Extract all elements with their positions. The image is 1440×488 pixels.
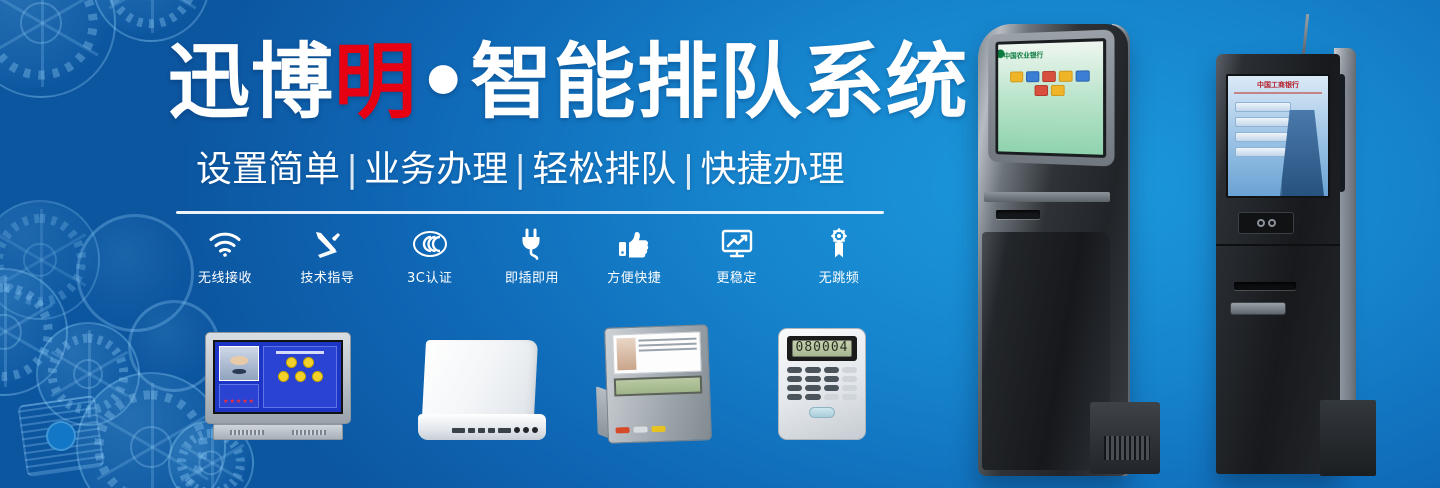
key[interactable] bbox=[824, 376, 839, 382]
key[interactable] bbox=[824, 394, 839, 400]
feature-item-convenient: 方便快捷 bbox=[585, 224, 683, 286]
kiosk-front-panel bbox=[984, 192, 1110, 202]
text-line bbox=[639, 348, 697, 352]
menu-tile[interactable] bbox=[1059, 71, 1073, 82]
key[interactable] bbox=[842, 376, 857, 382]
key[interactable] bbox=[824, 385, 839, 391]
evaluator-body bbox=[604, 324, 712, 444]
product-keypad-terminal: 080004 bbox=[778, 328, 866, 440]
kiosk-menu-list bbox=[1235, 102, 1291, 157]
avatar bbox=[616, 338, 636, 371]
kiosk-screen[interactable]: 中国农业银行 bbox=[995, 38, 1106, 158]
subtitle: 设置简单|业务办理|轻松排队|快捷办理 bbox=[196, 148, 896, 191]
menu-tile[interactable] bbox=[1026, 71, 1039, 82]
port-icon bbox=[488, 428, 495, 433]
emoji-row bbox=[286, 357, 314, 368]
menu-item[interactable] bbox=[1235, 102, 1291, 112]
kiosk-base bbox=[1320, 400, 1376, 476]
avatar bbox=[219, 346, 259, 381]
ticket-slot bbox=[996, 210, 1040, 219]
page-title: 迅博明•智能排队系统 bbox=[168, 42, 928, 124]
red-button bbox=[615, 427, 629, 433]
feature-label: 更稳定 bbox=[688, 267, 786, 286]
key[interactable] bbox=[842, 385, 857, 391]
key[interactable] bbox=[842, 394, 857, 400]
product-desktop-evaluator bbox=[604, 324, 712, 444]
subtitle-item-1: 设置简单 bbox=[196, 149, 340, 190]
tools-icon bbox=[278, 224, 376, 264]
ccc-icon bbox=[381, 224, 479, 264]
port-icon bbox=[478, 428, 485, 433]
port-icon bbox=[514, 427, 520, 433]
port-icon bbox=[523, 427, 529, 433]
keypad-lcd-bezel: 080004 bbox=[787, 336, 857, 361]
rating-question bbox=[276, 351, 324, 354]
menu-item[interactable] bbox=[1235, 147, 1291, 157]
title-part-1: 迅博 bbox=[168, 35, 334, 130]
key[interactable] bbox=[787, 385, 802, 391]
horizontal-divider bbox=[176, 211, 884, 214]
reader-eye-icon bbox=[1257, 219, 1265, 227]
grey-button bbox=[633, 426, 647, 432]
evaluator-buttons bbox=[615, 397, 704, 436]
banner-content: 迅博明•智能排队系统 设置简单|业务办理|轻松排队|快捷办理 无线接收 bbox=[0, 0, 920, 488]
port-icon bbox=[498, 428, 511, 433]
subtitle-item-4: 快捷办理 bbox=[700, 149, 844, 190]
brand-plate bbox=[1230, 302, 1286, 315]
kiosk-menu-tiles bbox=[1006, 70, 1095, 96]
antenna bbox=[1302, 14, 1309, 56]
wifi-icon bbox=[176, 224, 274, 264]
key[interactable] bbox=[842, 367, 857, 373]
host-box-panel bbox=[422, 340, 538, 418]
feature-list: 无线接收 技术指导 bbox=[176, 224, 888, 290]
subtitle-separator: | bbox=[340, 149, 364, 190]
port-icon bbox=[468, 428, 475, 433]
product-banner: 迅博明•智能排队系统 设置简单|业务办理|轻松排队|快捷办理 无线接收 bbox=[0, 0, 1440, 488]
port-icon bbox=[532, 427, 538, 433]
host-box-ports bbox=[452, 427, 538, 433]
product-evaluation-monitor bbox=[205, 332, 351, 440]
panel-seam bbox=[1216, 244, 1340, 246]
feature-item-tech-support: 技术指导 bbox=[278, 224, 376, 286]
key[interactable] bbox=[805, 385, 820, 391]
emoji-icon bbox=[312, 371, 323, 382]
kiosk-base bbox=[1090, 402, 1160, 474]
feature-item-plug-and-play: 即插即用 bbox=[483, 224, 581, 286]
award-icon bbox=[790, 224, 888, 264]
feature-label: 方便快捷 bbox=[585, 267, 683, 286]
subtitle-item-2: 业务办理 bbox=[364, 149, 508, 190]
monitor-staff-panel bbox=[219, 346, 259, 408]
monitor-chart-icon bbox=[688, 224, 786, 264]
feature-item-no-frequency-hop: 无跳频 bbox=[790, 224, 888, 286]
keypad-display: 080004 bbox=[792, 340, 852, 357]
emoji-row bbox=[278, 371, 323, 382]
monitor-frame bbox=[205, 332, 351, 424]
menu-tile[interactable] bbox=[1050, 85, 1064, 96]
monitor-stand bbox=[213, 424, 343, 440]
monitor-rating-panel bbox=[263, 346, 337, 408]
kiosk-screen[interactable]: 中国工商银行 bbox=[1226, 74, 1330, 198]
title-highlight: 明 bbox=[334, 35, 417, 130]
text-line bbox=[639, 338, 697, 342]
monitor-screen bbox=[213, 340, 343, 414]
feature-label: 技术指导 bbox=[278, 267, 376, 286]
menu-tile[interactable] bbox=[1076, 70, 1090, 81]
thumbs-up-icon bbox=[585, 224, 683, 264]
feature-label: 即插即用 bbox=[483, 267, 581, 286]
feature-item-wireless: 无线接收 bbox=[176, 224, 274, 286]
emoji-icon bbox=[295, 371, 306, 382]
menu-tile[interactable] bbox=[1010, 71, 1023, 82]
card-reader[interactable] bbox=[1238, 212, 1294, 234]
enter-key[interactable] bbox=[809, 407, 835, 418]
key[interactable] bbox=[824, 367, 839, 373]
port-icon bbox=[452, 428, 465, 433]
keypad-body: 080004 bbox=[778, 328, 866, 440]
screen-subtitle-line bbox=[1234, 92, 1322, 94]
menu-tile[interactable] bbox=[1042, 71, 1056, 82]
product-upright-queue-kiosk: 中国工商银行 bbox=[1208, 26, 1376, 476]
kiosk-bank-name: 中国工商银行 bbox=[1232, 80, 1324, 90]
subtitle-separator: | bbox=[676, 149, 700, 190]
menu-item[interactable] bbox=[1235, 117, 1291, 127]
menu-item[interactable] bbox=[1235, 132, 1291, 142]
title-dot: • bbox=[417, 35, 470, 130]
host-box-base bbox=[418, 414, 546, 440]
evaluator-lcd bbox=[614, 375, 703, 396]
product-image-row: 080004 bbox=[0, 318, 920, 458]
emoji-icon bbox=[286, 357, 297, 368]
key[interactable] bbox=[805, 394, 820, 400]
subtitle-item-3: 轻松排队 bbox=[532, 149, 676, 190]
title-part-2: 智能排队系统 bbox=[470, 35, 968, 130]
product-curved-queue-kiosk: 中国农业银行 bbox=[962, 24, 1152, 476]
ticket-slot bbox=[1234, 282, 1296, 290]
reader-eye-icon bbox=[1268, 219, 1276, 227]
key[interactable] bbox=[787, 376, 802, 382]
key[interactable] bbox=[787, 394, 802, 400]
kiosk-bank-name: 中国农业银行 bbox=[1004, 50, 1044, 61]
feature-label: 无线接收 bbox=[176, 267, 274, 286]
feature-label: 无跳频 bbox=[790, 267, 888, 286]
vent-grille bbox=[1104, 436, 1150, 460]
emoji-icon bbox=[278, 371, 289, 382]
subtitle-separator: | bbox=[508, 149, 532, 190]
feature-item-ccc: 3C认证 bbox=[381, 224, 479, 286]
menu-tile[interactable] bbox=[1034, 85, 1047, 96]
product-white-host-box bbox=[418, 340, 546, 440]
evaluator-id-card bbox=[612, 331, 701, 374]
feature-item-stable: 更稳定 bbox=[688, 224, 786, 286]
feature-label: 3C认证 bbox=[381, 267, 479, 286]
id-card-text bbox=[639, 336, 698, 370]
key[interactable] bbox=[787, 367, 802, 373]
kiosk-screen-housing: 中国农业银行 bbox=[988, 29, 1114, 166]
staff-rating bbox=[219, 384, 259, 408]
keypad-keys bbox=[787, 367, 857, 400]
plug-icon bbox=[483, 224, 581, 264]
yellow-button bbox=[651, 426, 665, 432]
text-line bbox=[639, 343, 697, 347]
key[interactable] bbox=[805, 367, 820, 373]
key[interactable] bbox=[805, 376, 820, 382]
emoji-icon bbox=[303, 357, 314, 368]
